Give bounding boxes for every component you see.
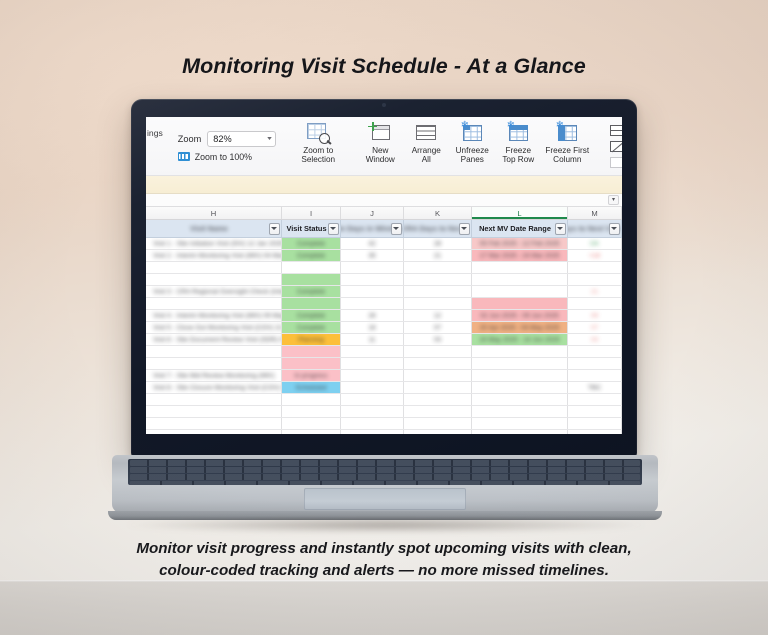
- unfreeze-panes-icon: ❄: [460, 122, 484, 144]
- cell-value: 03: [568, 336, 621, 343]
- column-header-k[interactable]: K: [404, 207, 472, 219]
- table-cell[interactable]: [146, 406, 282, 417]
- cell-value: 03: [404, 336, 471, 343]
- table-cell[interactable]: [282, 262, 341, 273]
- filter-dropdown-icon[interactable]: [459, 223, 470, 235]
- laptop-base: [112, 455, 658, 513]
- cell-value: Complete: [282, 312, 340, 319]
- table-cell[interactable]: [282, 298, 341, 309]
- freeze-first-column-button[interactable]: ❄ Freeze First Column: [541, 117, 593, 175]
- table-cell[interactable]: Visit 4 - Interim Monitoring Visit (IMV)…: [146, 310, 282, 321]
- table-cell[interactable]: TBC: [568, 382, 622, 393]
- table-cell[interactable]: [472, 298, 568, 309]
- table-row[interactable]: Visit 3 - CRA Regional Oversight Check (…: [146, 286, 622, 298]
- filter-dropdown-icon[interactable]: [269, 223, 280, 235]
- table-row[interactable]: [146, 262, 622, 274]
- table-cell[interactable]: [341, 394, 404, 405]
- table-cell[interactable]: [472, 286, 568, 297]
- table-cell[interactable]: 21: [404, 250, 472, 261]
- caption-line-1: Monitor visit progress and instantly spo…: [104, 538, 664, 560]
- split-icon: [610, 125, 622, 136]
- zoom-level-select[interactable]: 82% ▾: [207, 131, 276, 147]
- unfreeze-panes-label: Unfreeze Panes: [456, 146, 489, 164]
- table-cell[interactable]: [341, 406, 404, 417]
- table-cell[interactable]: [341, 382, 404, 393]
- freeze-top-row-label: Freeze Top Row: [502, 146, 534, 164]
- chevron-down-icon: ▾: [267, 135, 272, 142]
- table-header-label: Visit Name: [190, 224, 228, 233]
- hide-button[interactable]: Hide: [610, 139, 622, 153]
- table-cell[interactable]: [341, 418, 404, 429]
- cell-value: 05 Feb 2025 - 12 Feb 2025: [472, 240, 567, 247]
- table-cell[interactable]: 03: [568, 334, 622, 345]
- table-cell[interactable]: Complete: [282, 286, 341, 297]
- table-header-cell: CRA Days to Next: [404, 220, 472, 237]
- cell-value: 18: [341, 324, 403, 331]
- zoom-to-100-button[interactable]: Zoom to 100%: [178, 152, 277, 162]
- table-cell[interactable]: 17 Mar 2025 - 24 Mar 2025: [472, 250, 568, 261]
- cell-value: 42: [341, 240, 403, 247]
- cell-value: Visit 6 - Site Document Review Visit (SD…: [146, 336, 281, 343]
- table-cell[interactable]: [404, 394, 472, 405]
- cell-value: OK: [568, 240, 621, 247]
- table-header-cell: Visit Status: [282, 220, 341, 237]
- unhide-button: Unhide: [610, 155, 622, 169]
- table-cell[interactable]: [472, 346, 568, 357]
- keyboard: [128, 459, 642, 485]
- table-cell[interactable]: [568, 394, 622, 405]
- table-cell[interactable]: [341, 430, 404, 434]
- table-cell[interactable]: Complete: [282, 238, 341, 249]
- table-cell[interactable]: [568, 262, 622, 273]
- table-cell[interactable]: Visit 8 - Site Closure Monitoring Visit …: [146, 382, 282, 393]
- column-header-row: HIJKLM: [146, 207, 622, 220]
- window-group: New Window Arrange All ❄ Unfreeze Panes: [351, 117, 599, 175]
- cell-value: Visit 2 - Interim Monitoring Visit (IMV)…: [146, 252, 281, 259]
- cell-value: 26: [341, 312, 403, 319]
- table-cell[interactable]: 07: [568, 322, 622, 333]
- table-cell[interactable]: 35: [341, 250, 404, 261]
- table-cell[interactable]: +14: [568, 250, 622, 261]
- table-cell[interactable]: 03: [404, 334, 472, 345]
- table-header-cell: Next MV Date Range: [472, 220, 568, 237]
- table-header-label: Visit Status: [286, 224, 326, 233]
- cell-value: 20 Apr 2025 - 04 May 2025: [472, 324, 567, 331]
- table-cell[interactable]: OK: [568, 238, 622, 249]
- formula-bar-band: [146, 176, 622, 194]
- filter-dropdown-icon[interactable]: [328, 223, 339, 235]
- table-cell[interactable]: [568, 274, 622, 285]
- table-header-cell: Days to Next Visit: [568, 220, 622, 237]
- table-cell[interactable]: Complete: [282, 250, 341, 261]
- poster-stage: Monitoring Visit Schedule - At a Glance …: [0, 0, 768, 635]
- table-cell[interactable]: Visit 6 - Site Document Review Visit (SD…: [146, 334, 282, 345]
- zoom-level-value: 82%: [213, 134, 231, 144]
- table-cell[interactable]: Complete: [282, 322, 341, 333]
- cell-value: 17 Mar 2025 - 24 Mar 2025: [472, 252, 567, 259]
- table-cell[interactable]: Visit 3 - CRA Regional Oversight Check (…: [146, 286, 282, 297]
- excel-ribbon-view-tab: ings Zoom 82% ▾ Zoom to 100%: [146, 117, 622, 176]
- cell-value: 24 May 2025 - 14 Jun 2025: [472, 336, 567, 343]
- split-hide-group: Split Hide Unhide: [603, 117, 622, 175]
- table-cell[interactable]: [404, 382, 472, 393]
- table-cell[interactable]: 28: [404, 238, 472, 249]
- table-cell[interactable]: [568, 406, 622, 417]
- filter-dropdown-icon[interactable]: [609, 223, 620, 235]
- new-window-label: New Window: [366, 146, 395, 164]
- cell-value: 35: [341, 252, 403, 259]
- cell-value: Visit 4 - Interim Monitoring Visit (IMV)…: [146, 312, 281, 319]
- table-header-label: Next MV Date Range: [479, 224, 551, 233]
- cell-value: Complete: [282, 288, 340, 295]
- table-cell[interactable]: 18: [341, 322, 404, 333]
- table-cell[interactable]: [404, 418, 472, 429]
- freeze-top-row-button[interactable]: ❄ Freeze Top Row: [495, 117, 541, 175]
- table-cell[interactable]: 02 Jun 2025 - 09 Jun 2025: [472, 310, 568, 321]
- filter-dropdown-icon[interactable]: [391, 223, 402, 235]
- table-cell[interactable]: [472, 418, 568, 429]
- table-cell[interactable]: 24 May 2025 - 14 Jun 2025: [472, 334, 568, 345]
- table-row[interactable]: [146, 346, 622, 358]
- zoom-group: Zoom 82% ▾ Zoom to 100%: [169, 117, 286, 175]
- table-header-cell: Visit Name: [146, 220, 282, 237]
- table-cell[interactable]: [282, 358, 341, 369]
- table-cell[interactable]: [282, 430, 341, 434]
- table-cell[interactable]: [404, 358, 472, 369]
- formula-bar-row: ▾: [146, 194, 622, 207]
- laptop-drop-shadow: [126, 517, 646, 533]
- keyboard-row: [130, 460, 640, 466]
- laptop-screen: ings Zoom 82% ▾ Zoom to 100%: [146, 117, 622, 434]
- cell-value: Visit 3 - CRA Regional Oversight Check (…: [146, 288, 281, 295]
- cell-value: Visit 5 - Close Out Monitoring Visit (CO…: [146, 324, 281, 331]
- table-cell[interactable]: 12: [404, 310, 472, 321]
- table-cell[interactable]: [568, 418, 622, 429]
- table-cell[interactable]: [404, 298, 472, 309]
- table-cell[interactable]: [472, 382, 568, 393]
- table-header-cell: Site Days in Window: [341, 220, 404, 237]
- cell-value: Complete: [282, 240, 340, 247]
- table-cell[interactable]: 26: [341, 310, 404, 321]
- table-cell[interactable]: Visit 1 - Site Initiation Visit (SIV) 12…: [146, 238, 282, 249]
- table-cell[interactable]: [568, 298, 622, 309]
- table-row[interactable]: [146, 406, 622, 418]
- table-cell[interactable]: [282, 418, 341, 429]
- table-row[interactable]: Visit 5 - Close Out Monitoring Visit (CO…: [146, 322, 622, 334]
- table-cell[interactable]: [341, 346, 404, 357]
- cell-value: 07: [568, 324, 621, 331]
- table-row[interactable]: Visit 2 - Interim Monitoring Visit (IMV)…: [146, 250, 622, 262]
- table-cell[interactable]: Visit 2 - Interim Monitoring Visit (IMV)…: [146, 250, 282, 261]
- table-cell[interactable]: [404, 286, 472, 297]
- table-cell[interactable]: [404, 262, 472, 273]
- table-cell[interactable]: [404, 430, 472, 434]
- table-cell[interactable]: Visit 7 - Site Mid Review Monitoring (IM…: [146, 370, 282, 381]
- table-cell[interactable]: [568, 430, 622, 434]
- unfreeze-panes-button[interactable]: ❄ Unfreeze Panes: [449, 117, 495, 175]
- table-row[interactable]: Visit 1 - Site Initiation Visit (SIV) 12…: [146, 238, 622, 250]
- table-cell[interactable]: 09: [568, 310, 622, 321]
- table-cell[interactable]: [472, 406, 568, 417]
- table-cell[interactable]: 05 Feb 2025 - 12 Feb 2025: [472, 238, 568, 249]
- table-cell[interactable]: [472, 262, 568, 273]
- table-cell[interactable]: [341, 358, 404, 369]
- table-cell[interactable]: In progress: [282, 370, 341, 381]
- webcam-icon: [382, 103, 386, 107]
- zoom-to-selection-label: Zoom to Selection: [301, 146, 335, 164]
- ribbon-clipped-group-label: ings: [146, 117, 165, 175]
- hide-icon: [610, 141, 622, 152]
- caption-line-2: colour-coded tracking and alerts — no mo…: [104, 560, 664, 582]
- table-header-filter-row: Visit NameVisit StatusSite Days in Windo…: [146, 220, 622, 238]
- table-cell[interactable]: [146, 298, 282, 309]
- arrange-all-button[interactable]: Arrange All: [403, 117, 449, 175]
- table-cell[interactable]: [341, 274, 404, 285]
- trackpad[interactable]: [304, 488, 466, 510]
- split-button[interactable]: Split: [610, 123, 622, 137]
- cell-value: +14: [568, 252, 621, 259]
- cell-value: 09: [568, 312, 621, 319]
- table-cell[interactable]: [341, 298, 404, 309]
- cell-value: Scheduled: [282, 384, 340, 391]
- zoom-to-100-icon: [178, 152, 190, 161]
- table-cell[interactable]: [472, 430, 568, 434]
- table-cell[interactable]: [341, 370, 404, 381]
- table-cell[interactable]: [146, 346, 282, 357]
- table-cell[interactable]: [472, 358, 568, 369]
- table-cell[interactable]: Visit 5 - Close Out Monitoring Visit (CO…: [146, 322, 282, 333]
- table-body: Visit 1 - Site Initiation Visit (SIV) 12…: [146, 238, 622, 434]
- zoom-to-selection-button[interactable]: Zoom to Selection: [295, 117, 341, 175]
- cell-value: 21: [568, 288, 621, 295]
- zoom-selection-group: Zoom to Selection: [289, 117, 347, 175]
- freeze-top-row-icon: ❄: [506, 122, 530, 144]
- table-cell[interactable]: [568, 346, 622, 357]
- table-row[interactable]: Visit 4 - Interim Monitoring Visit (IMV)…: [146, 310, 622, 322]
- cell-value: Visit 1 - Site Initiation Visit (SIV) 12…: [146, 240, 281, 247]
- table-cell[interactable]: [282, 406, 341, 417]
- table-cell[interactable]: [282, 394, 341, 405]
- cell-value: 02 Jun 2025 - 09 Jun 2025: [472, 312, 567, 319]
- table-cell[interactable]: [341, 262, 404, 273]
- table-cell[interactable]: 07: [404, 322, 472, 333]
- cell-value: 28: [404, 240, 471, 247]
- table-cell[interactable]: [404, 346, 472, 357]
- table-row[interactable]: Visit 7 - Site Mid Review Monitoring (IM…: [146, 370, 622, 382]
- table-cell[interactable]: [472, 274, 568, 285]
- table-cell[interactable]: 42: [341, 238, 404, 249]
- table-cell[interactable]: Scheduled: [282, 382, 341, 393]
- formula-bar-expand-icon[interactable]: ▾: [608, 195, 619, 205]
- table-cell[interactable]: [472, 394, 568, 405]
- table-row[interactable]: [146, 358, 622, 370]
- column-header-l[interactable]: L: [472, 207, 568, 219]
- column-header-i[interactable]: I: [282, 207, 341, 219]
- table-cell[interactable]: [146, 262, 282, 273]
- spreadsheet-grid[interactable]: HIJKLM Visit NameVisit StatusSite Days i…: [146, 207, 622, 434]
- arrange-all-icon: [414, 122, 438, 144]
- table-cell[interactable]: [404, 370, 472, 381]
- column-header-m[interactable]: M: [568, 207, 622, 219]
- cell-value: 21: [404, 252, 471, 259]
- cell-value: TBC: [568, 384, 621, 391]
- cell-value: Visit 8 - Site Closure Monitoring Visit …: [146, 384, 281, 391]
- table-cell[interactable]: [568, 358, 622, 369]
- column-header-h[interactable]: H: [146, 207, 282, 219]
- table-cell[interactable]: [146, 394, 282, 405]
- cell-value: 11: [341, 336, 403, 343]
- table-cell[interactable]: [146, 358, 282, 369]
- table-row[interactable]: [146, 430, 622, 434]
- table-cell[interactable]: [341, 286, 404, 297]
- zoom-to-selection-icon: [306, 122, 330, 144]
- unhide-icon: [610, 157, 622, 168]
- table-cell[interactable]: 11: [341, 334, 404, 345]
- cell-value: 07: [404, 324, 471, 331]
- table-cell[interactable]: [282, 274, 341, 285]
- freeze-first-column-icon: ❄: [555, 122, 579, 144]
- table-row[interactable]: Visit 6 - Site Document Review Visit (SD…: [146, 334, 622, 346]
- cell-value: Visit 7 - Site Mid Review Monitoring (IM…: [146, 372, 281, 379]
- zoom-label: Zoom: [178, 134, 202, 144]
- freeze-first-column-label: Freeze First Column: [545, 146, 589, 164]
- caption: Monitor visit progress and instantly spo…: [104, 538, 664, 581]
- table-header-label: CRA Days to Next: [404, 224, 464, 233]
- cell-value: Complete: [282, 324, 340, 331]
- zoom-to-100-label: Zoom to 100%: [195, 152, 252, 162]
- arrange-all-label: Arrange All: [412, 146, 441, 164]
- table-cell[interactable]: [472, 370, 568, 381]
- keyboard-row: [130, 474, 640, 480]
- table-cell[interactable]: [146, 430, 282, 434]
- cell-value: Complete: [282, 252, 340, 259]
- keyboard-row: [130, 481, 640, 485]
- keyboard-row: [130, 467, 640, 473]
- table-row[interactable]: Visit 8 - Site Closure Monitoring Visit …: [146, 382, 622, 394]
- table-row[interactable]: [146, 418, 622, 430]
- new-window-button[interactable]: New Window: [357, 117, 403, 175]
- table-row[interactable]: [146, 298, 622, 310]
- cell-value: Planning: [282, 336, 340, 343]
- table-cell[interactable]: [404, 406, 472, 417]
- cell-value: In progress: [282, 372, 340, 379]
- cell-value: 12: [404, 312, 471, 319]
- table-row[interactable]: [146, 274, 622, 286]
- table-cell[interactable]: [146, 274, 282, 285]
- table-cell[interactable]: 21: [568, 286, 622, 297]
- table-cell[interactable]: Planning: [282, 334, 341, 345]
- table-cell[interactable]: 20 Apr 2025 - 04 May 2025: [472, 322, 568, 333]
- table-cell[interactable]: [146, 418, 282, 429]
- table-cell[interactable]: [568, 370, 622, 381]
- table-cell[interactable]: [282, 346, 341, 357]
- new-window-icon: [368, 122, 392, 144]
- table-cell[interactable]: Complete: [282, 310, 341, 321]
- table-row[interactable]: [146, 394, 622, 406]
- table-cell[interactable]: [404, 274, 472, 285]
- filter-dropdown-icon[interactable]: [555, 223, 566, 235]
- column-header-j[interactable]: J: [341, 207, 404, 219]
